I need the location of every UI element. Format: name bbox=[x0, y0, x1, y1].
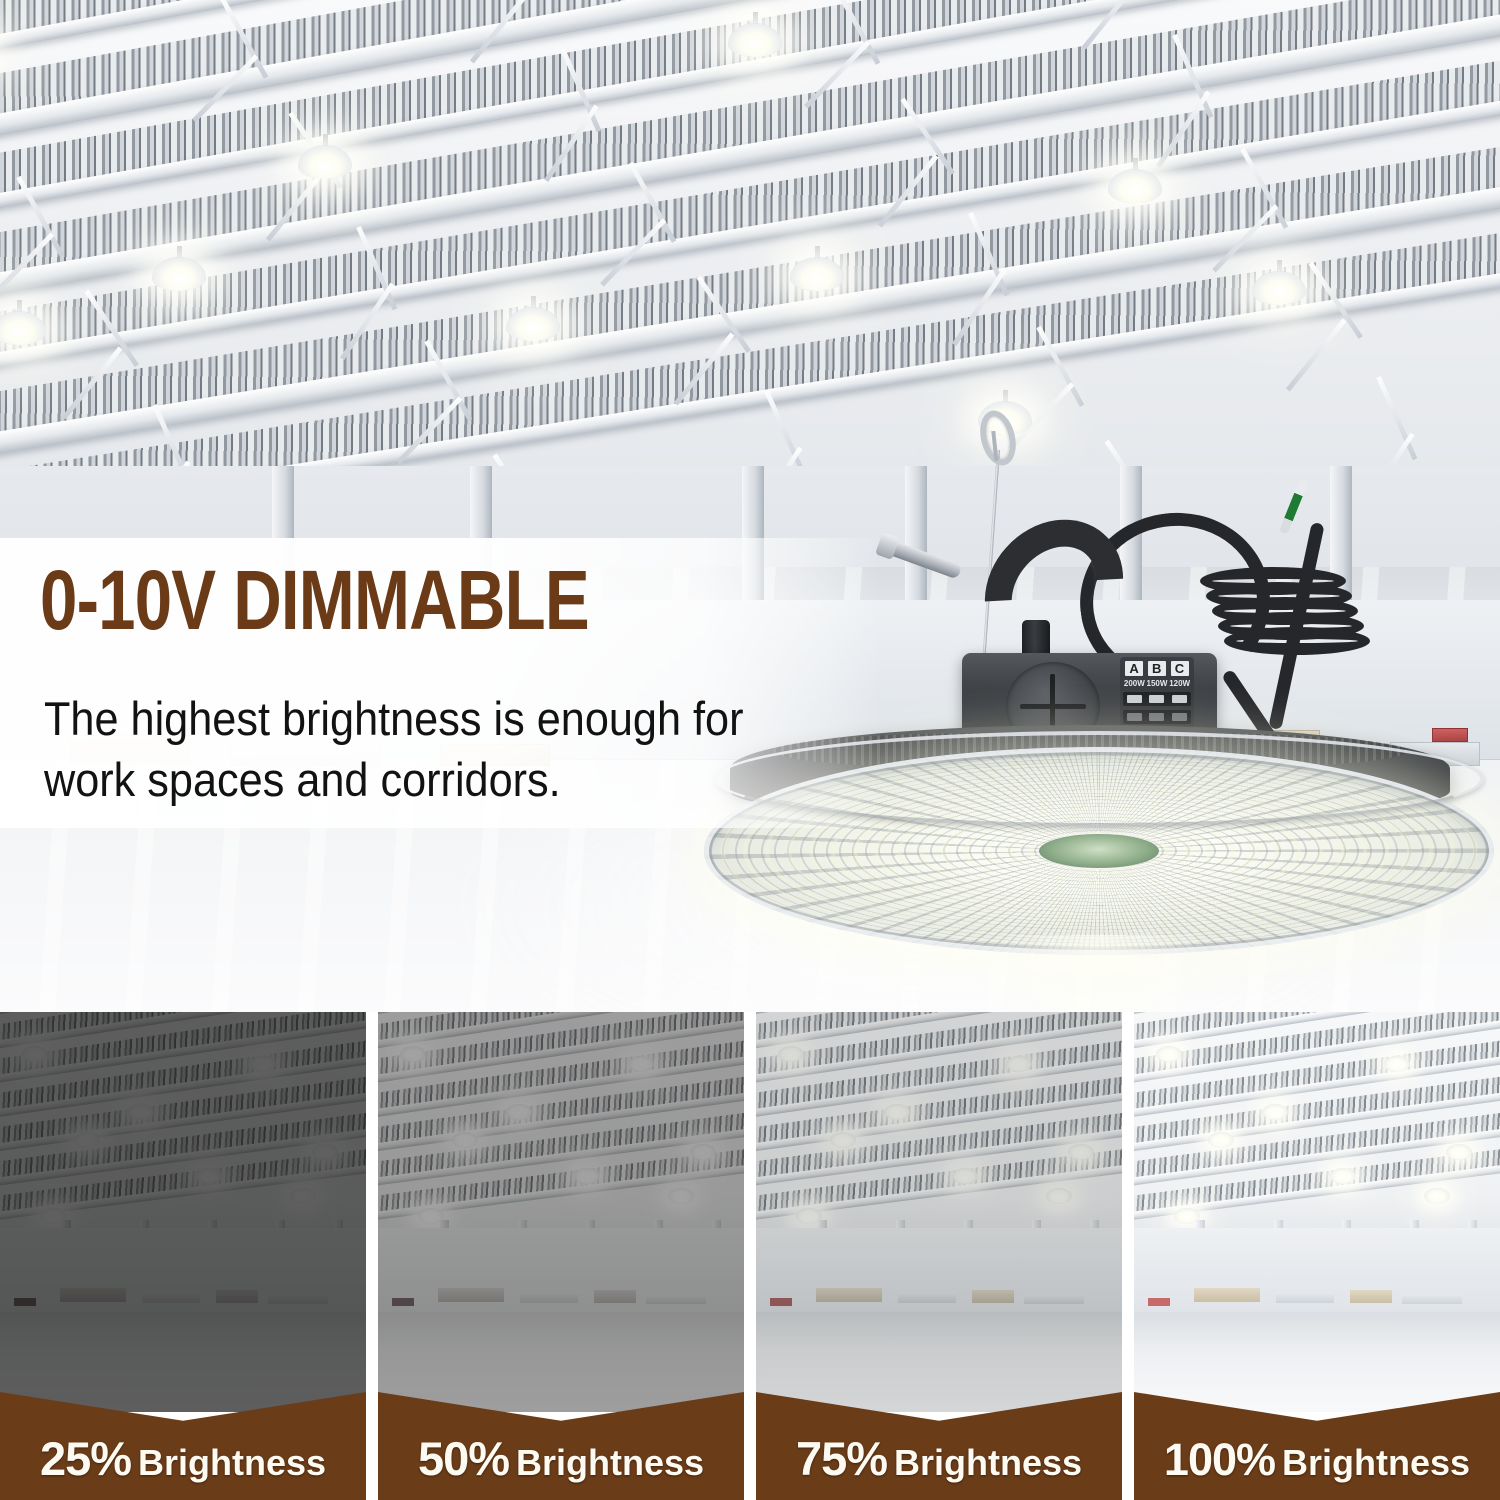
ceiling-high-bay-lamp bbox=[1446, 1144, 1472, 1160]
ceiling-high-bay-lamp bbox=[1006, 1056, 1032, 1072]
ceiling-high-bay-lamp bbox=[290, 1188, 316, 1204]
ceiling-high-bay-lamp bbox=[1046, 1188, 1072, 1204]
ceiling-high-bay-lamp bbox=[22, 1046, 48, 1062]
ceiling-high-bay-lamp bbox=[1208, 1132, 1234, 1148]
downward-light-glow bbox=[990, 935, 1210, 1012]
brightness-sample-100[interactable]: 100%Brightness bbox=[1134, 1012, 1500, 1500]
panel-divider bbox=[1122, 1012, 1134, 1500]
ceiling-high-bay-lamp bbox=[574, 1168, 600, 1184]
warehouse-interior-scene bbox=[378, 1012, 744, 1412]
brightness-sample-25[interactable]: 25%Brightness bbox=[0, 1012, 366, 1500]
caption-text: 100%Brightness bbox=[1134, 1434, 1500, 1486]
brightness-label: Brightness bbox=[138, 1442, 326, 1483]
ceiling-high-bay-lamp bbox=[952, 1168, 978, 1184]
ceiling-high-bay-lamp bbox=[668, 1188, 694, 1204]
stored-goods bbox=[216, 1290, 258, 1303]
brightness-percent: 100% bbox=[1164, 1434, 1275, 1485]
caption-band: 25%Brightness bbox=[0, 1380, 366, 1500]
hook-locking-pin bbox=[886, 539, 963, 579]
ceiling-high-bay-lamp bbox=[1424, 1188, 1450, 1204]
selector-option-a: A bbox=[1125, 661, 1143, 676]
stored-goods bbox=[1402, 1294, 1462, 1304]
warehouse-interior-scene bbox=[0, 1012, 366, 1412]
ceiling-high-bay-lamp bbox=[506, 307, 560, 341]
ceiling-high-bay-lamp bbox=[128, 1104, 154, 1120]
ceiling-high-bay-lamp bbox=[250, 1056, 276, 1072]
ceiling-high-bay-lamp bbox=[452, 1132, 478, 1148]
dip-switch-row-2[interactable] bbox=[1123, 710, 1191, 724]
ceiling-high-bay-lamp bbox=[196, 1168, 222, 1184]
brightness-label: Brightness bbox=[516, 1442, 704, 1483]
ceiling-high-bay-lamp bbox=[1384, 1056, 1410, 1072]
caption-band: 100%Brightness bbox=[1134, 1380, 1500, 1500]
ceiling-high-bay-lamp bbox=[778, 1046, 804, 1062]
brightness-thumbnail bbox=[378, 1012, 744, 1412]
ceiling-high-bay-lamp bbox=[1330, 1168, 1356, 1184]
stored-goods bbox=[1276, 1292, 1334, 1303]
ceiling-high-bay-lamp bbox=[1156, 1046, 1182, 1062]
green-ground-wire bbox=[1279, 479, 1308, 534]
stored-goods bbox=[594, 1290, 636, 1303]
stored-goods bbox=[268, 1294, 328, 1304]
ceiling-high-bay-lamp bbox=[1108, 169, 1162, 203]
selector-option-c: C bbox=[1171, 661, 1189, 676]
stored-goods bbox=[1194, 1288, 1260, 1302]
ceiling-high-bay-lamp bbox=[152, 257, 206, 291]
ceiling-high-bay-lamp bbox=[1252, 271, 1306, 305]
wattage-b: 150W bbox=[1147, 679, 1168, 688]
wattage-c: 120W bbox=[1169, 679, 1190, 688]
stored-goods bbox=[60, 1288, 126, 1302]
warehouse-interior-scene bbox=[756, 1012, 1122, 1412]
ceiling-high-bay-lamp bbox=[1262, 1104, 1288, 1120]
ceiling-high-bay-lamp bbox=[884, 1104, 910, 1120]
wattage-a: 200W bbox=[1124, 679, 1145, 688]
stored-goods bbox=[816, 1288, 882, 1302]
ceiling-high-bay-lamp bbox=[790, 257, 844, 291]
brightness-label: Brightness bbox=[894, 1442, 1082, 1483]
page-title: 0-10V DIMMABLE bbox=[40, 552, 589, 649]
stored-goods bbox=[392, 1298, 414, 1306]
caption-text: 25%Brightness bbox=[0, 1431, 366, 1486]
selector-wattages: 200W 150W 120W bbox=[1123, 679, 1191, 688]
ceiling-high-bay-lamp bbox=[830, 1132, 856, 1148]
ceiling-high-bay-lamp bbox=[400, 1046, 426, 1062]
caption-band: 50%Brightness bbox=[378, 1380, 744, 1500]
brightness-sample-75[interactable]: 75%Brightness bbox=[756, 1012, 1122, 1500]
ceiling-high-bay-lamp bbox=[690, 1144, 716, 1160]
brightness-sample-50[interactable]: 50%Brightness bbox=[378, 1012, 744, 1500]
brightness-percent: 75% bbox=[796, 1432, 887, 1485]
panel-divider bbox=[744, 1012, 756, 1500]
warehouse-interior-scene bbox=[1134, 1012, 1500, 1412]
brightness-thumbnail bbox=[0, 1012, 366, 1412]
stored-goods bbox=[646, 1294, 706, 1304]
stored-goods bbox=[1024, 1294, 1084, 1304]
stored-goods bbox=[1350, 1290, 1392, 1303]
headline-overlay-panel: 0-10V DIMMABLE The highest brightness is… bbox=[0, 538, 880, 828]
brightness-thumbnail bbox=[1134, 1012, 1500, 1412]
stored-goods bbox=[14, 1298, 36, 1306]
subtitle: The highest brightness is enough for wor… bbox=[44, 688, 780, 810]
stored-goods bbox=[438, 1288, 504, 1302]
ceiling-high-bay-lamp bbox=[1068, 1144, 1094, 1160]
ceiling-high-bay-lamp bbox=[298, 145, 352, 179]
caption-text: 50%Brightness bbox=[378, 1431, 744, 1486]
stored-goods bbox=[770, 1298, 792, 1306]
stored-goods bbox=[972, 1290, 1014, 1303]
brightness-comparison-strip: 25%Brightness 50%Brightness bbox=[0, 1012, 1500, 1500]
stored-goods bbox=[142, 1292, 200, 1303]
selector-option-b: B bbox=[1148, 661, 1166, 676]
brightness-label: Brightness bbox=[1282, 1442, 1470, 1483]
stored-goods bbox=[1148, 1298, 1170, 1306]
caption-band: 75%Brightness bbox=[756, 1380, 1122, 1500]
hero-warehouse-photo: A B C 200W 150W 120W bbox=[0, 0, 1500, 1012]
panel-divider bbox=[366, 1012, 378, 1500]
ceiling-high-bay-lamp bbox=[506, 1104, 532, 1120]
ceiling-high-bay-lamp bbox=[74, 1132, 100, 1148]
brightness-thumbnail bbox=[756, 1012, 1122, 1412]
carabiner-clip-icon bbox=[975, 407, 1022, 470]
caption-text: 75%Brightness bbox=[756, 1431, 1122, 1486]
product-marketing-image: A B C 200W 150W 120W bbox=[0, 0, 1500, 1500]
truss-web-member bbox=[1286, 319, 1347, 392]
brightness-percent: 25% bbox=[40, 1432, 131, 1485]
ceiling-high-bay-lamp bbox=[312, 1144, 338, 1160]
ceiling-high-bay-lamp bbox=[0, 311, 46, 345]
stored-goods bbox=[898, 1292, 956, 1303]
dip-switch-row-1[interactable] bbox=[1123, 692, 1191, 706]
stored-goods bbox=[520, 1292, 578, 1303]
selector-letters: A B C bbox=[1123, 661, 1191, 676]
brightness-percent: 50% bbox=[418, 1432, 509, 1485]
ceiling-high-bay-lamp bbox=[728, 23, 782, 57]
ceiling-high-bay-lamp bbox=[628, 1056, 654, 1072]
